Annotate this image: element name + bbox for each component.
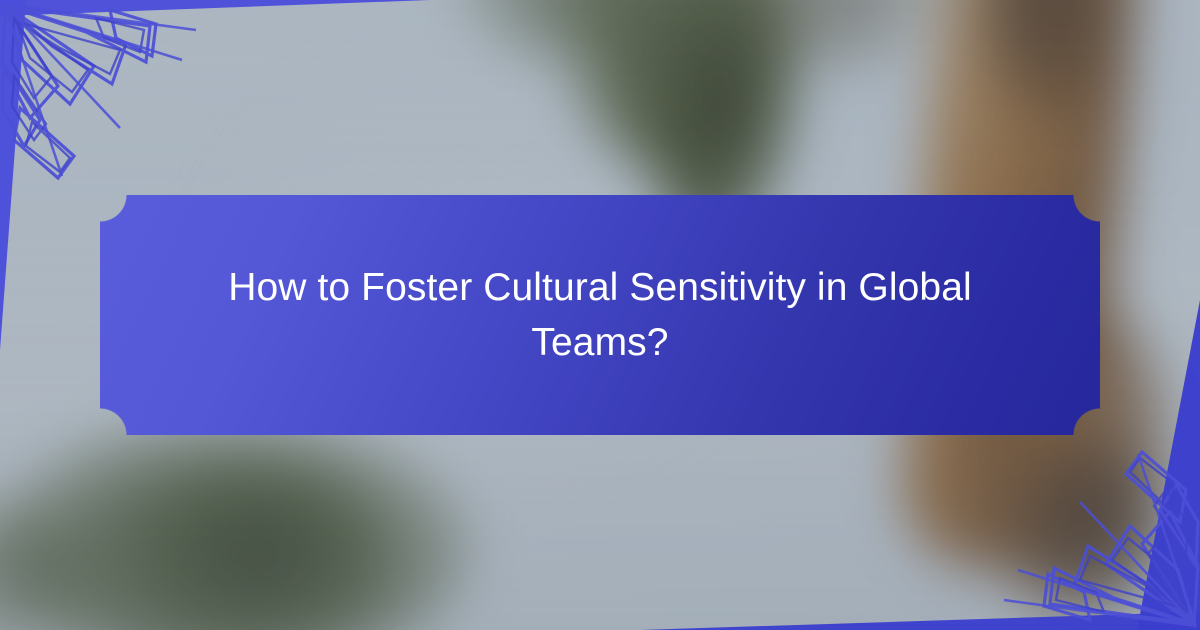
page-title: How to Foster Cultural Sensitivity in Gl… bbox=[212, 260, 988, 371]
title-card: How to Foster Cultural Sensitivity in Gl… bbox=[0, 0, 1200, 630]
title-banner: How to Foster Cultural Sensitivity in Gl… bbox=[100, 195, 1100, 435]
